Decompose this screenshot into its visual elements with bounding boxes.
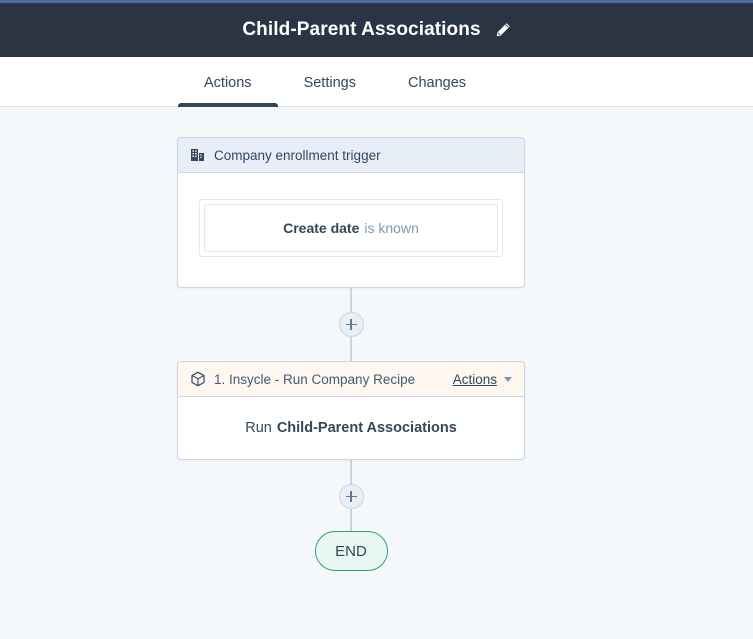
action-card-label: 1. Insycle - Run Company Recipe bbox=[214, 372, 415, 387]
workflow-canvas[interactable]: Company enrollment trigger Create date i… bbox=[0, 108, 753, 639]
enrollment-trigger-body: Create date is known bbox=[178, 173, 524, 287]
end-node-wrap: END bbox=[177, 531, 525, 571]
connector-trigger-to-action bbox=[177, 288, 525, 361]
workflow-flow: Company enrollment trigger Create date i… bbox=[177, 137, 525, 571]
action-body-recipe-name: Child-Parent Associations bbox=[277, 420, 457, 436]
end-node-label: END bbox=[335, 543, 367, 560]
filter-operator: is known bbox=[364, 220, 418, 236]
action-card-body: Run Child-Parent Associations bbox=[178, 397, 524, 459]
chevron-down-icon bbox=[504, 377, 512, 382]
tab-changes-label: Changes bbox=[408, 75, 466, 91]
connector-line-upper-2 bbox=[350, 460, 352, 484]
action-card-actions-menu[interactable]: Actions bbox=[453, 372, 512, 387]
connector-line-lower bbox=[350, 337, 352, 361]
action-card-header: 1. Insycle - Run Company Recipe Actions bbox=[178, 362, 524, 397]
tab-actions-label: Actions bbox=[204, 75, 252, 91]
add-step-button-top[interactable] bbox=[339, 312, 364, 337]
connector-action-to-end bbox=[177, 460, 525, 531]
pencil-icon[interactable] bbox=[495, 22, 511, 38]
enrollment-trigger-header: Company enrollment trigger bbox=[178, 138, 524, 173]
tab-bar: Actions Settings Changes bbox=[0, 57, 753, 107]
tab-settings[interactable]: Settings bbox=[278, 57, 382, 107]
tab-settings-label: Settings bbox=[304, 75, 356, 91]
tab-actions[interactable]: Actions bbox=[178, 57, 278, 107]
header-title-group: Child-Parent Associations bbox=[242, 19, 510, 41]
tab-list: Actions Settings Changes bbox=[178, 57, 492, 107]
action-body-prefix: Run bbox=[245, 420, 272, 436]
end-node: END bbox=[315, 531, 388, 571]
enrollment-trigger-card[interactable]: Company enrollment trigger Create date i… bbox=[177, 137, 525, 288]
filter-group[interactable]: Create date is known bbox=[199, 199, 503, 257]
add-step-button-bottom[interactable] bbox=[339, 484, 364, 509]
action-card-actions-label: Actions bbox=[453, 372, 497, 387]
action-card-1[interactable]: 1. Insycle - Run Company Recipe Actions … bbox=[177, 361, 525, 460]
connector-line-lower-2 bbox=[350, 509, 352, 531]
filter-criterion[interactable]: Create date is known bbox=[204, 204, 498, 252]
app-header: Child-Parent Associations bbox=[0, 3, 753, 57]
filter-property: Create date bbox=[283, 220, 359, 236]
enrollment-trigger-label: Company enrollment trigger bbox=[214, 148, 381, 163]
cube-icon bbox=[190, 371, 214, 387]
plus-icon-vertical bbox=[350, 491, 352, 502]
company-building-icon bbox=[190, 147, 214, 163]
tab-changes[interactable]: Changes bbox=[382, 57, 492, 107]
connector-line-upper bbox=[350, 288, 352, 312]
plus-icon-vertical bbox=[350, 319, 352, 330]
page-title: Child-Parent Associations bbox=[242, 19, 480, 41]
